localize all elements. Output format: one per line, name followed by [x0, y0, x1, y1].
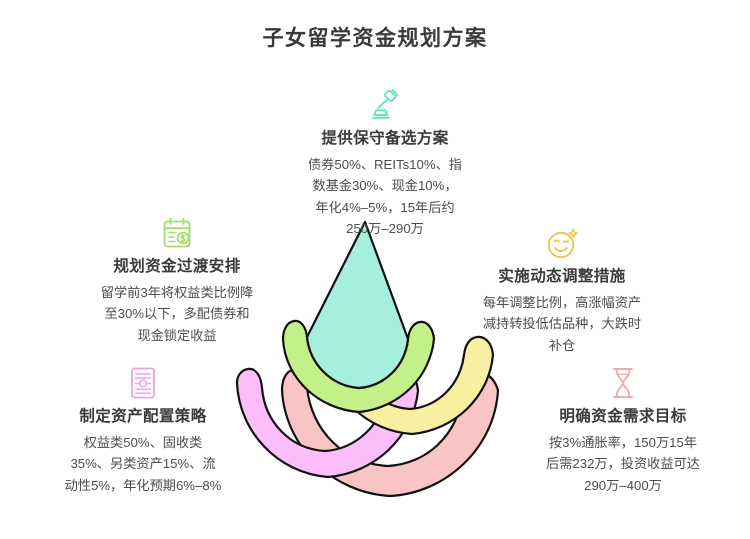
section-title: 规划资金过渡安排: [58, 254, 296, 276]
section-body: 留学前3年将权益类比例降 至30%以下，多配债券和 现金锁定收益: [58, 282, 296, 346]
section-funding-demand-goal: 明确资金需求目标 按3%通胀率，150万15年 后需232万，投资收益可达 29…: [498, 366, 748, 496]
hourglass-icon: [498, 366, 748, 400]
winking-face-icon: [452, 226, 672, 260]
section-fund-transition-arrangement: 规划资金过渡安排 留学前3年将权益类比例降 至30%以下，多配债券和 现金锁定收…: [58, 216, 296, 346]
infographic-canvas: 子女留学资金规划方案: [0, 0, 750, 539]
section-title: 制定资产配置策略: [18, 404, 268, 426]
gavel-icon: [255, 88, 515, 122]
section-title: 提供保守备选方案: [255, 126, 515, 148]
cone-layer-1: [307, 222, 408, 388]
section-title: 实施动态调整措施: [452, 264, 672, 286]
calendar-dollar-icon: [58, 216, 296, 250]
section-asset-allocation-strategy: 制定资产配置策略 权益类50%、固收类 35%、另类资产15%、流 动性5%，年…: [18, 366, 268, 496]
section-body: 按3%通胀率，150万15年 后需232万，投资收益可达 290万–400万: [498, 432, 748, 496]
document-form-icon: [18, 366, 268, 400]
section-body: 权益类50%、固收类 35%、另类资产15%、流 动性5%，年化预期6%–8%: [18, 432, 268, 496]
section-title: 明确资金需求目标: [498, 404, 748, 426]
page-title: 子女留学资金规划方案: [0, 22, 750, 52]
section-dynamic-adjustment-measures: 实施动态调整措施 每年调整比例，高涨幅资产 减持转投低估品种，大跌时 补仓: [452, 226, 672, 356]
section-body: 每年调整比例，高涨幅资产 减持转投低估品种，大跌时 补仓: [452, 292, 672, 356]
